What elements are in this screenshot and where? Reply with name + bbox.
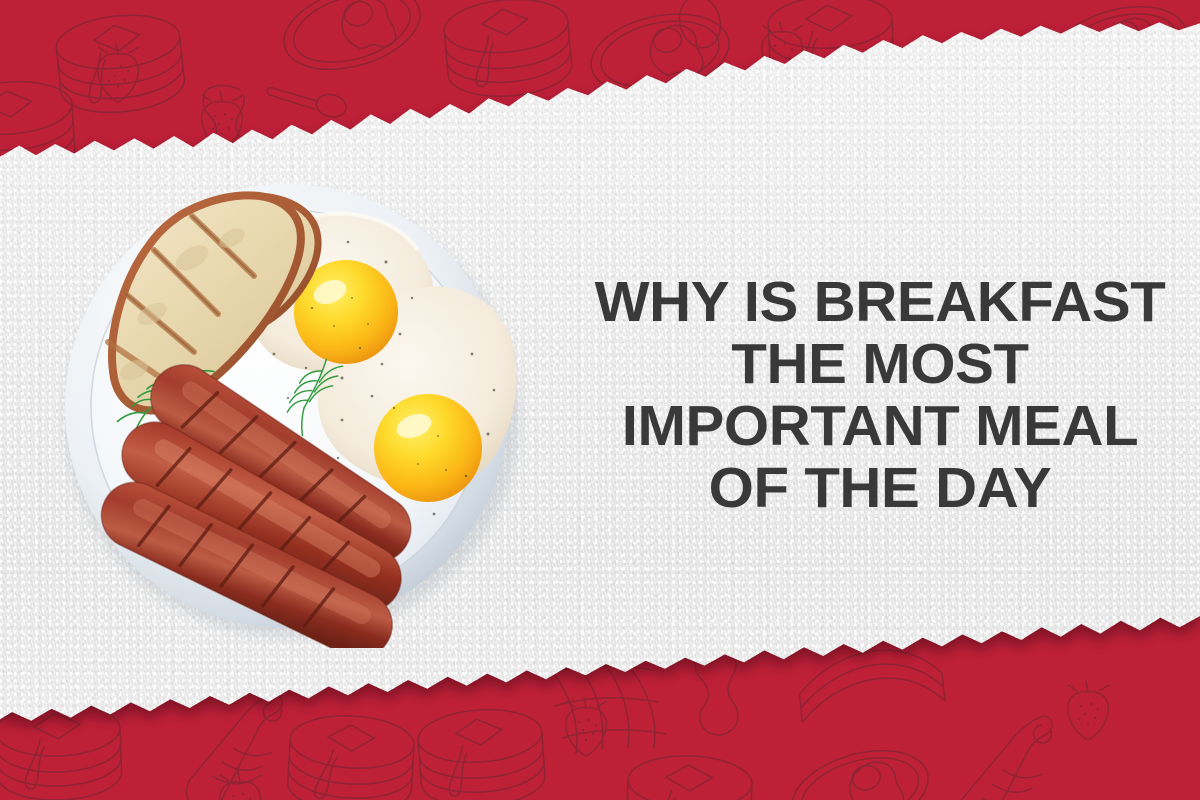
headline-line-4: OF THE DAY [554,458,1200,520]
headline-line-2: THE MOST [554,334,1200,396]
breakfast-plate-illustration [42,158,532,648]
headline-line-1: WHY IS BREAKFAST [554,272,1200,334]
banner-canvas: WHY IS BREAKFAST THE MOST IMPORTANT MEAL… [0,0,1200,800]
page-title: WHY IS BREAKFAST THE MOST IMPORTANT MEAL… [554,272,1200,519]
headline-line-3: IMPORTANT MEAL [554,396,1200,458]
